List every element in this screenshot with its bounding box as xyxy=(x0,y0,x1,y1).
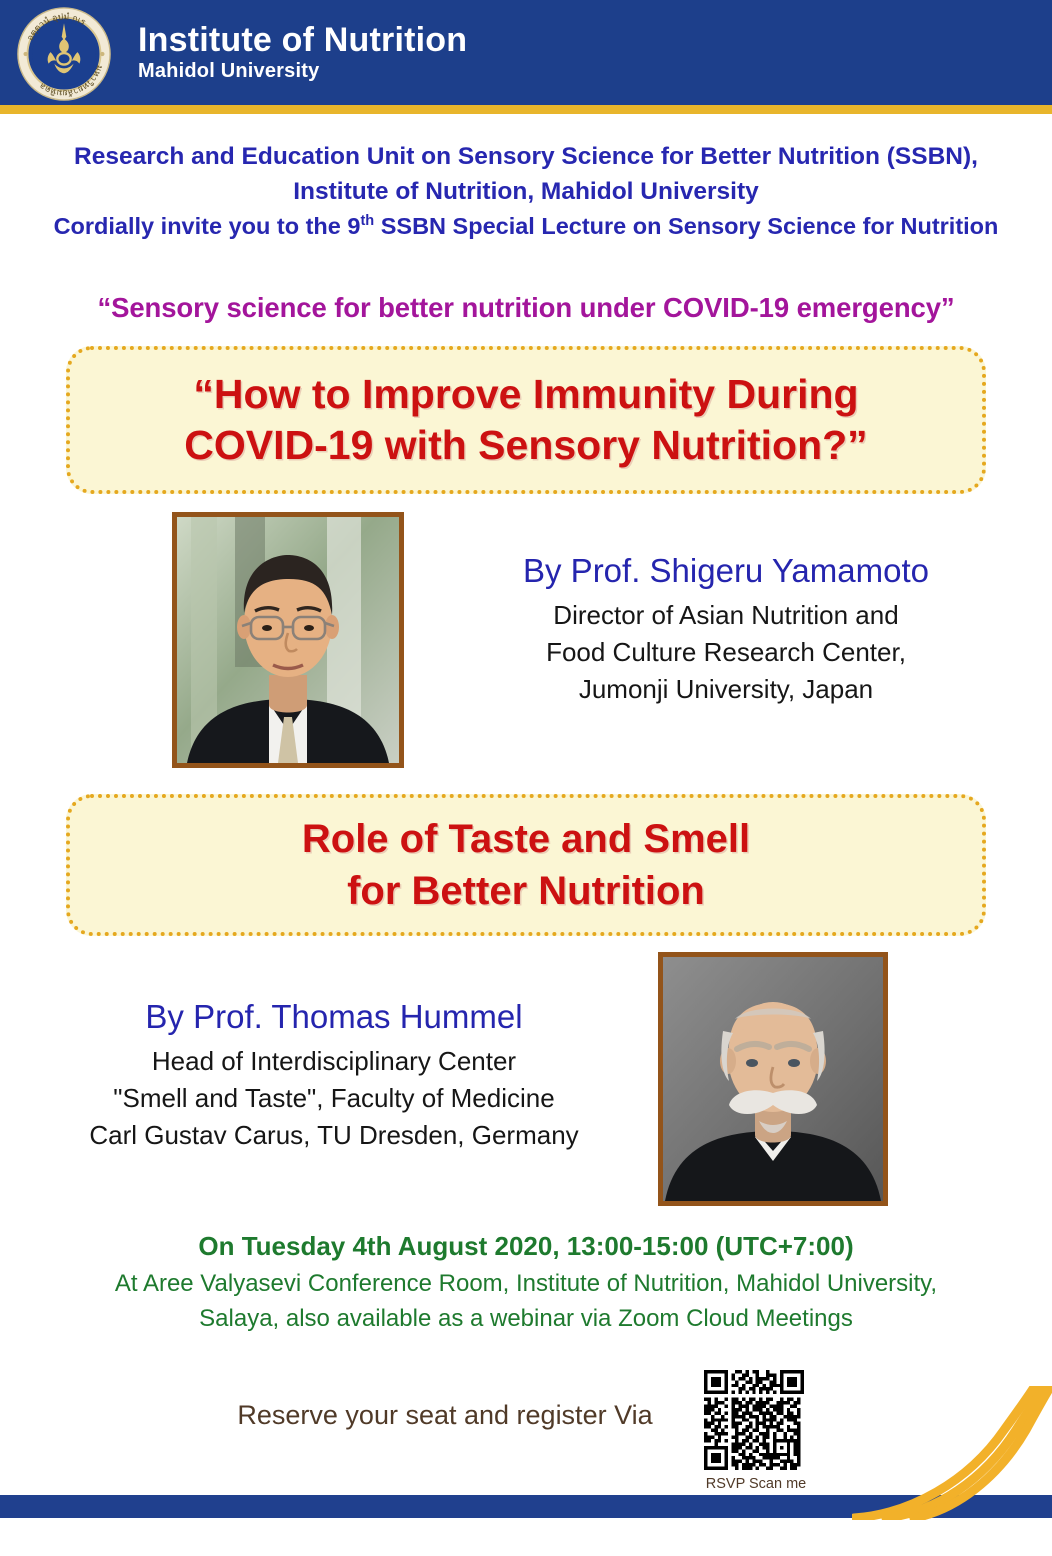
qr-code-icon[interactable] xyxy=(704,1370,804,1470)
talk-1-title-box: “How to Improve Immunity During COVID-19… xyxy=(66,346,986,494)
speaker-1-affiliation-line-2: Food Culture Research Center, xyxy=(424,634,1028,671)
speaker-2-name: By Prof. Thomas Hummel xyxy=(24,998,644,1037)
header-gold-divider xyxy=(0,105,1052,114)
header-text-block: Institute of Nutrition Mahidol Universit… xyxy=(138,22,467,82)
poster-header: อตฺตานํ อุปมํ กเร มหาวิทยาลัยมหิดล Insti… xyxy=(0,0,1052,105)
qr-code-caption: RSVP Scan me xyxy=(704,1476,808,1492)
speaker-2-affiliation-line-3: Carl Gustav Carus, TU Dresden, Germany xyxy=(24,1117,644,1154)
university-name: Mahidol University xyxy=(138,61,467,82)
talk-1-title-line-2: COVID-19 with Sensory Nutrition?” xyxy=(184,422,867,468)
speaker-2-affiliation: Head of Interdisciplinary Center "Smell … xyxy=(24,1043,644,1154)
event-venue-line-2: Salaya, also available as a webinar via … xyxy=(0,1301,1052,1336)
intro-line-2: Institute of Nutrition, Mahidol Universi… xyxy=(0,175,1052,210)
event-venue-line-1: At Aree Valyasevi Conference Room, Insti… xyxy=(0,1266,1052,1301)
talk-2-title-line-1: Role of Taste and Smell xyxy=(302,817,750,861)
talk-2-title-box: Role of Taste and Smell for Better Nutri… xyxy=(66,794,986,936)
speaker-2-affiliation-line-2: "Smell and Taste", Faculty of Medicine xyxy=(24,1080,644,1117)
ordinal-suffix: th xyxy=(360,213,374,229)
speaker-1-affiliation: Director of Asian Nutrition and Food Cul… xyxy=(424,597,1028,708)
intro-line-1: Research and Education Unit on Sensory S… xyxy=(0,140,1052,175)
lecture-theme-quote: “Sensory science for better nutrition un… xyxy=(0,292,1052,324)
speaker-1-details: By Prof. Shigeru Yamamoto Director of As… xyxy=(424,552,1028,708)
event-poster: อตฺตานํ อุปมํ กเร มหาวิทยาลัยมหิดล Insti… xyxy=(0,0,1052,1556)
speaker-1-affiliation-line-3: Jumonji University, Japan xyxy=(424,671,1028,708)
event-details: On Tuesday 4th August 2020, 13:00-15:00 … xyxy=(0,1228,1052,1336)
talk-1-title-line-1: “How to Improve Immunity During xyxy=(193,371,858,417)
institute-name: Institute of Nutrition xyxy=(138,22,467,58)
speaker-2-affiliation-line-1: Head of Interdisciplinary Center xyxy=(24,1043,644,1080)
rsvp-qr-block[interactable]: RSVP Scan me xyxy=(704,1370,808,1492)
intro-paragraph: Research and Education Unit on Sensory S… xyxy=(0,140,1052,243)
mahidol-university-logo-icon: อตฺตานํ อุปมํ กเร มหาวิทยาลัยมหิดล xyxy=(16,6,112,102)
speaker-2-details: By Prof. Thomas Hummel Head of Interdisc… xyxy=(24,998,644,1154)
speaker-1-photo xyxy=(172,512,404,768)
footer-bar xyxy=(0,1495,1052,1518)
rsvp-instruction: Reserve your seat and register Via xyxy=(210,1400,680,1431)
intro-line-3-post: SSBN Special Lecture on Sensory Science … xyxy=(374,213,998,239)
intro-line-3-pre: Cordially invite you to the 9 xyxy=(54,213,361,239)
speaker-2-photo xyxy=(658,952,888,1206)
event-datetime: On Tuesday 4th August 2020, 13:00-15:00 … xyxy=(0,1228,1052,1266)
speaker-1-affiliation-line-1: Director of Asian Nutrition and xyxy=(424,597,1028,634)
speaker-1-name: By Prof. Shigeru Yamamoto xyxy=(424,552,1028,591)
talk-2-title-line-2: for Better Nutrition xyxy=(347,869,705,913)
intro-line-3: Cordially invite you to the 9th SSBN Spe… xyxy=(0,210,1052,243)
